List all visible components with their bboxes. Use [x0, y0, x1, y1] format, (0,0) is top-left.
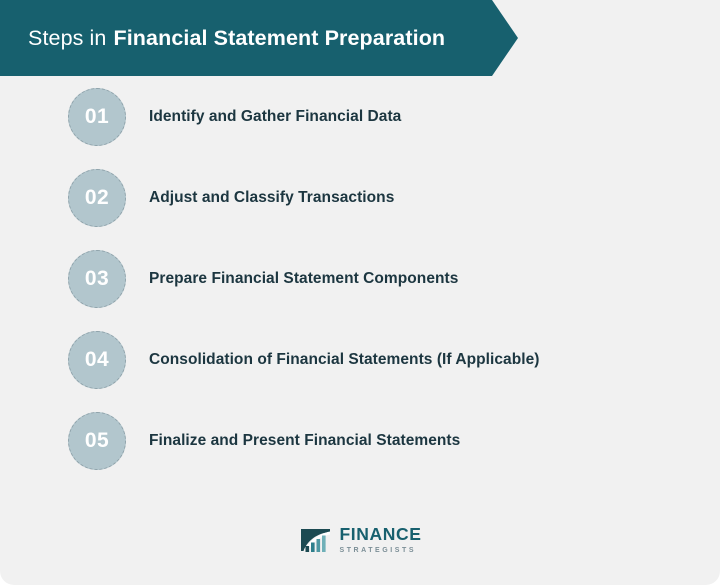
page-title: Steps in Financial Statement Preparation [28, 0, 445, 76]
step-label: Consolidation of Financial Statements (I… [149, 351, 539, 369]
step-label: Adjust and Classify Transactions [149, 189, 394, 207]
step-item-2: 02 Adjust and Classify Transactions [0, 157, 720, 238]
step-number-badge: 03 [68, 250, 126, 308]
steps-list: 01 Identify and Gather Financial Data 02… [0, 76, 720, 481]
step-item-1: 01 Identify and Gather Financial Data [0, 76, 720, 157]
logo-name: FINANCE [340, 526, 422, 544]
page-title-prefix: Steps in [28, 26, 107, 51]
step-number-badge: 04 [68, 331, 126, 389]
finance-chart-logo-icon [299, 526, 333, 554]
brand-logo: FINANCE STRATEGISTS [0, 515, 720, 565]
header-banner: Steps in Financial Statement Preparation [0, 0, 518, 76]
step-label: Identify and Gather Financial Data [149, 108, 401, 126]
step-label: Finalize and Present Financial Statement… [149, 432, 460, 450]
step-item-5: 05 Finalize and Present Financial Statem… [0, 400, 720, 481]
step-number-badge: 01 [68, 88, 126, 146]
step-number-badge: 05 [68, 412, 126, 470]
step-item-4: 04 Consolidation of Financial Statements… [0, 319, 720, 400]
logo-wordmark: FINANCE STRATEGISTS [340, 526, 422, 554]
logo-tagline: STRATEGISTS [340, 547, 417, 554]
page-title-emphasis: Financial Statement Preparation [114, 26, 446, 51]
step-label: Prepare Financial Statement Components [149, 270, 458, 288]
infographic-card: Steps in Financial Statement Preparation… [0, 0, 720, 585]
step-number-badge: 02 [68, 169, 126, 227]
step-item-3: 03 Prepare Financial Statement Component… [0, 238, 720, 319]
